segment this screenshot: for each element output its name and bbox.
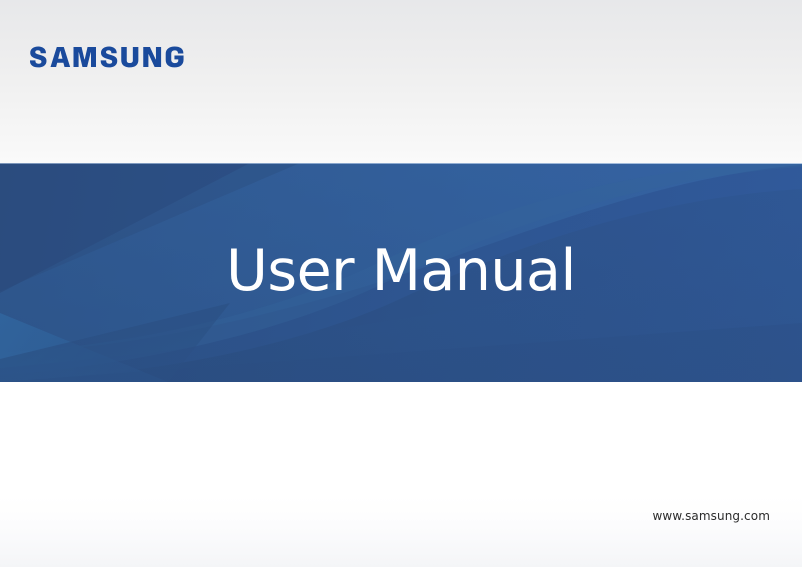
footer-area [0, 382, 802, 567]
samsung-website-url[interactable]: www.samsung.com [653, 509, 770, 523]
manual-cover-page: User Manual www.samsung.com [0, 0, 802, 567]
header-band [0, 0, 802, 163]
hero-top-rule [0, 163, 802, 164]
samsung-wordmark-icon [28, 41, 198, 71]
page-title: User Manual [0, 236, 802, 306]
